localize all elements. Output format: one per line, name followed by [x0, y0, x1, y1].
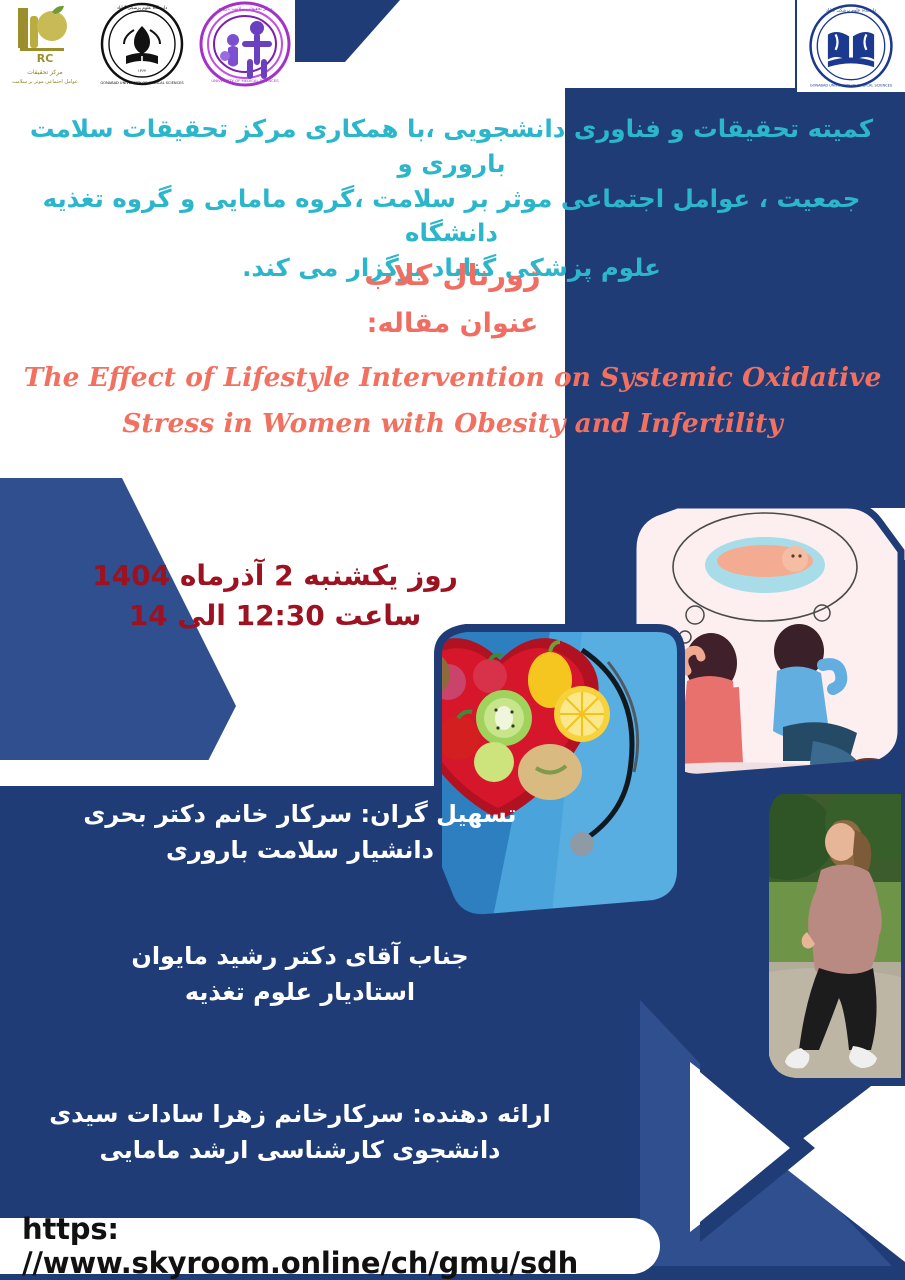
reproductive-health-research-center-logo: مرکز تحقیقات سلامت باروری UNIVERSITY OF …: [195, 0, 295, 88]
svg-text:UNIVERSITY OF MEDICAL SCIENCES: UNIVERSITY OF MEDICAL SCIENCES: [211, 78, 279, 83]
sdh-research-center-logo: RC مرکز تحقیقات عوامل اجتماعی موثر بر سل…: [0, 0, 90, 88]
svg-text:مرکز تحقیقات سلامت باروری: مرکز تحقیقات سلامت باروری: [217, 6, 273, 12]
gonabad-university-seal-bw: ۱۳۶۴ دانشگاه علوم پزشکی گناباد GONABAD U…: [90, 0, 195, 88]
article-title-label: عنوان مقاله:: [0, 308, 905, 339]
event-time: ساعت 12:30 الی 14: [60, 596, 490, 636]
journal-club-label: ژورنال کلاب: [0, 258, 905, 292]
facilitator-block: تسهیل گران: سرکار خانم دکتر بحری دانشیار…: [40, 796, 560, 868]
svg-text:مرکز تحقیقات: مرکز تحقیقات: [27, 69, 63, 76]
healthy-food-heart-bowl-photo: [432, 622, 687, 922]
paper-title: The Effect of Lifestyle Intervention on …: [18, 355, 887, 446]
svg-text:GONABAD UNIVERSITY OF MEDICAL: GONABAD UNIVERSITY OF MEDICAL SCIENCES: [810, 83, 893, 87]
presenter-name: ارائه دهنده: سرکارخانم زهرا سادات سیدی: [40, 1096, 560, 1132]
organizer-line-1: کمیته تحقیقات و فناوری دانشجویی ،با همکا…: [8, 112, 895, 182]
facilitator2-name: جناب آقای دکتر رشید مایوان: [40, 938, 560, 974]
paper-title-line-1: The Effect of Lifestyle Intervention on …: [18, 355, 887, 401]
svg-text:عوامل اجتماعی موثر بر سلامت: عوامل اجتماعی موثر بر سلامت: [12, 79, 78, 85]
meeting-link-banner[interactable]: https: //www.skyroom.online/ch/gmu/sdh: [0, 1218, 660, 1274]
meeting-link-url[interactable]: https: //www.skyroom.online/ch/gmu/sdh: [0, 1212, 660, 1280]
presenter-block: ارائه دهنده: سرکارخانم زهرا سادات سیدی د…: [40, 1096, 560, 1168]
svg-text:RC: RC: [37, 52, 54, 65]
facilitator2-block: جناب آقای دکتر رشید مایوان استادیار علوم…: [40, 938, 560, 1010]
event-datetime: روز یکشنبه 2 آذرماه 1404 ساعت 12:30 الی …: [60, 556, 490, 636]
svg-text:۱۳۶۴: ۱۳۶۴: [138, 68, 147, 73]
paper-title-line-2: Stress in Women with Obesity and Inferti…: [18, 401, 887, 447]
organizer-line-2: جمعیت ، عوامل اجتماعی موثر بر سلامت ،گرو…: [8, 182, 895, 252]
svg-text:GONABAD UNIVERSITY OF MEDICAL: GONABAD UNIVERSITY OF MEDICAL SCIENCES: [100, 81, 184, 85]
facilitator-name: تسهیل گران: سرکار خانم دکتر بحری: [40, 796, 560, 832]
event-date: روز یکشنبه 2 آذرماه 1404: [60, 556, 490, 596]
facilitator-role: دانشیار سلامت باروری: [40, 832, 560, 868]
poster-root: مرکز تحقیقات سلامت باروری UNIVERSITY OF …: [0, 0, 905, 1280]
svg-text:دانشگاه علوم پزشکی گناباد: دانشگاه علوم پزشکی گناباد: [117, 5, 167, 11]
logo-row: مرکز تحقیقات سلامت باروری UNIVERSITY OF …: [0, 0, 295, 88]
gonabad-university-seal-blue: دانشگاه علوم پزشکی گناباد GONABAD UNIVER…: [797, 0, 905, 92]
facilitator2-role: استادیار علوم تغذیه: [40, 974, 560, 1010]
svg-text:دانشگاه علوم پزشکی گناباد: دانشگاه علوم پزشکی گناباد: [826, 7, 877, 13]
woman-walking-outdoors-photo: [757, 786, 905, 1086]
presenter-role: دانشجوی کارشناسی ارشد مامایی: [40, 1132, 560, 1168]
